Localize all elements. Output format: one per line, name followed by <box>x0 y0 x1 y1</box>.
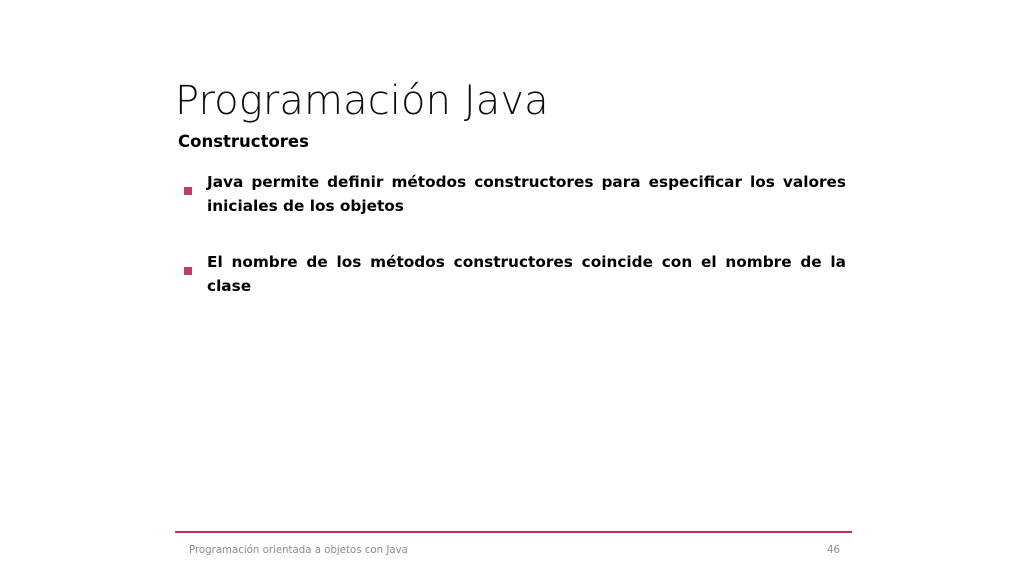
square-bullet-icon <box>184 258 192 266</box>
page-title: Programación Java <box>175 77 875 125</box>
footer-page-number: 46 <box>760 544 840 558</box>
bullet-list: Java permite definir métodos constructor… <box>184 170 846 298</box>
slide-subtitle: Constructores <box>178 131 309 153</box>
list-item: El nombre de los métodos constructores c… <box>184 250 846 298</box>
list-item: Java permite definir métodos constructor… <box>184 170 846 218</box>
footer-divider <box>175 518 852 520</box>
slide-canvas: Programación Java Constructores Java per… <box>0 0 1024 576</box>
footer-course-label: Programación orientada a objetos con Jav… <box>189 544 408 558</box>
list-item-text: Java permite definir métodos constructor… <box>207 170 846 218</box>
square-bullet-icon <box>184 178 192 186</box>
list-item-text: El nombre de los métodos constructores c… <box>207 250 846 298</box>
